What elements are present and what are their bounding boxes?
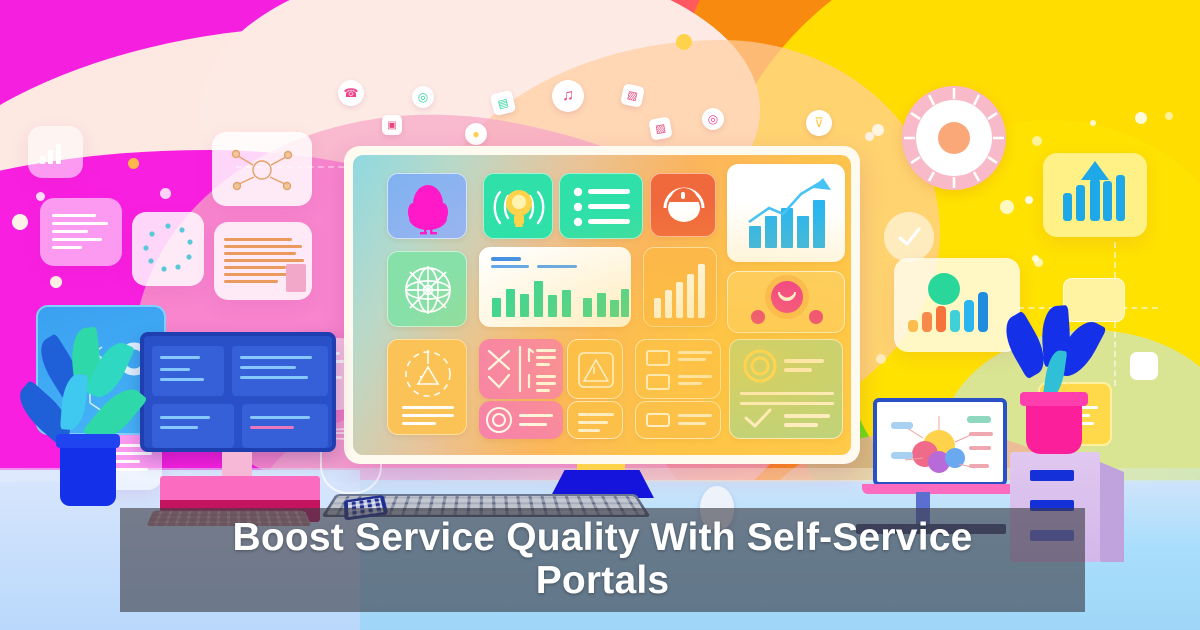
checklist-icon [560,174,643,239]
main-monitor [344,146,860,464]
ascending-bars-icon [644,248,717,327]
tile-support[interactable] [650,173,716,237]
phone-support-icon[interactable]: ☎ [338,80,364,106]
decor-dot [1165,112,1173,120]
tile-bird[interactable] [387,173,467,239]
shuffle-list-icon [479,339,563,399]
decor-dot [1135,112,1147,124]
growth-arrow-icon [1043,153,1147,237]
gauge-ticks [902,86,1006,190]
bar-chart-icon [479,247,631,327]
warning-doc-icon [568,340,623,399]
decor-dot [12,214,28,230]
colored-bar-chart-icon [894,258,1020,352]
image-icon[interactable]: ▨ [648,116,672,140]
network-node-icon [212,132,312,206]
connector-dashed [1114,322,1116,386]
decor-dot [1090,120,1096,126]
decor-dot [160,188,171,199]
target-ring-icon[interactable]: ◎ [412,86,434,108]
music-note-icon[interactable]: ♫ [552,80,584,112]
check-circle-icon [893,221,925,253]
check-card-icon [730,340,843,439]
tile-idea[interactable] [483,173,553,239]
tile-knowledge[interactable] [635,339,721,399]
card-small-white [1130,352,1158,380]
card-document [214,222,312,300]
card-loading-ring [132,212,204,286]
decor-dot [128,158,139,169]
tile-workflow[interactable] [479,339,563,399]
spinner-icon [132,212,204,286]
cabinet-handle [1030,470,1074,481]
tile-report[interactable] [479,247,631,327]
laptop-mindmap [873,398,1007,486]
tile-verified[interactable] [729,339,843,439]
card-text-lines [40,198,122,266]
decor-dot [676,34,692,50]
tile-globe[interactable] [387,251,467,327]
dashboard-screen [353,155,851,455]
message-icon[interactable]: ▣ [382,115,402,135]
headset-icon [651,174,716,237]
hero-illustration: ☎ ▣ ◎ ● ▤ ♫ ▧ ▨ ◎ ⊽ [0,0,1200,630]
lightbulb-icon [484,174,553,239]
tile-checklist[interactable] [559,173,643,239]
card-growth-arrow [1043,153,1147,237]
tile-alert[interactable] [387,339,467,435]
file-cabinet-side [1100,462,1124,562]
avatar-node-icon [728,272,845,333]
mindmap-diagram [877,402,1007,486]
card-stat-bars [894,258,1020,352]
decor-dot [50,276,62,288]
tile-knowledge-item[interactable] [635,401,721,439]
decor-dot [1032,136,1042,146]
calendar-icon[interactable]: ▧ [620,83,645,108]
card-network [212,132,312,206]
decor-dot [1034,258,1043,267]
tile-growth[interactable] [643,247,717,327]
bird-icon [388,174,467,239]
laptop-base [862,484,1020,494]
page-title: Boost Service Quality With Self-Service … [173,517,1033,603]
tile-feedback[interactable] [479,401,563,439]
bar-chart-up-icon [727,164,845,262]
card-check [884,212,934,262]
cocktail-icon[interactable]: ⊽ [806,110,832,136]
decor-dot [876,354,886,364]
decor-dot [865,132,874,141]
warning-gauge-icon [388,340,467,435]
tile-agent[interactable] [727,271,845,333]
card-blank-yellow [1063,278,1125,322]
decor-dot [36,192,45,201]
smiley-lines-icon [479,401,563,439]
tile-analytics[interactable] [727,164,845,262]
decor-dot [1025,196,1033,204]
secondary-monitor [140,332,336,452]
decor-dot [1000,200,1014,214]
secondary-monitor-neck [222,452,252,478]
circle-ring-icon[interactable]: ◎ [702,108,724,130]
title-banner: Boost Service Quality With Self-Service … [120,508,1085,612]
tile-summary[interactable] [567,401,623,439]
tile-ticket[interactable] [567,339,623,399]
dial-gauge [902,86,1006,190]
coin-icon[interactable]: ● [465,123,487,145]
globe-target-icon [388,252,467,327]
card-mini-chart [28,126,83,178]
